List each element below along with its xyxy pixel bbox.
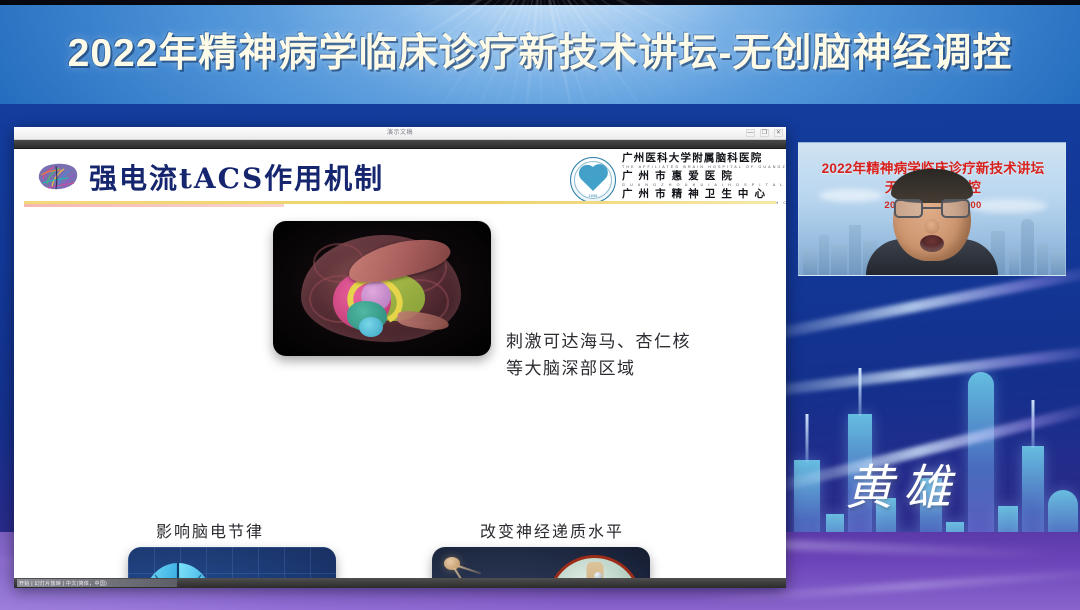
video-skyline-building <box>849 225 861 275</box>
presenter-nose <box>925 219 940 234</box>
pink-divider <box>24 204 284 207</box>
video-skyline-building <box>1037 243 1048 275</box>
glasses-lens-right <box>941 199 970 218</box>
video-skyline-building <box>1009 249 1019 275</box>
glasses-bridge <box>923 207 941 209</box>
footer-status-chip[interactable]: 开始 | 幻灯片放映 | 中文(简体，中国) <box>17 579 177 587</box>
presenter-mouth <box>920 235 944 252</box>
annotation-eeg-rhythm: 影响脑电节律 <box>156 518 264 542</box>
window-controls: — ❐ ✕ <box>746 129 783 137</box>
shared-slide-window[interactable]: 演示文稿 — ❐ ✕ <box>14 127 786 588</box>
glasses-lens-left <box>894 199 923 218</box>
seal-year: 1898 <box>589 194 598 198</box>
annotation-deep-brain: 刺激可达海马、杏仁核等大脑深部区域 <box>506 329 696 383</box>
video-skyline-building <box>819 235 829 275</box>
presenter-name: 黄雄 <box>845 448 961 518</box>
light-beam <box>780 343 1080 400</box>
screenshot-root: 2022年精神病学临床诊疗新技术讲坛-无创脑神经调控 黄雄 <box>0 0 1080 610</box>
neuron-dendrite <box>458 565 481 574</box>
footer-status-label: 开始 | 幻灯片放映 | 中文(简体，中国) <box>17 580 107 587</box>
video-skyline-building <box>831 245 847 275</box>
brain-structure-cyan <box>359 317 383 337</box>
video-skyline-building <box>1051 251 1065 275</box>
page-title: 2022年精神病学临床诊疗新技术讲坛-无创脑神经调控 <box>0 22 1080 78</box>
minimize-icon[interactable]: — <box>746 129 755 137</box>
hospital-line1-cn: 广州医科大学附属脑科医院 <box>622 153 786 164</box>
maximize-icon[interactable]: ❐ <box>760 129 769 137</box>
video-skyline-building <box>1021 219 1034 275</box>
hospital-logo: 1898 广州医科大学附属脑科医院 THE AFFILIATED BRAIN H… <box>570 153 786 206</box>
video-skyline-building <box>803 249 817 275</box>
slide-footer-taskbar[interactable]: 开始 | 幻灯片放映 | 中文(简体，中国) <box>14 578 786 588</box>
slide-header: 强电流tACS作用机制 1898 广州医科大学附属脑科医院 THE AFFILI… <box>14 149 786 205</box>
presentation-toolbar[interactable] <box>14 140 786 149</box>
annotation-neurotransmitter: 改变神经递质水平 <box>480 518 624 542</box>
brain-3d-image <box>273 221 491 356</box>
hospital-seal-icon: 1898 <box>570 157 616 203</box>
hospital-name-block: 广州医科大学附属脑科医院 THE AFFILIATED BRAIN HOSPIT… <box>622 153 786 206</box>
slide-canvas: 强电流tACS作用机制 1898 广州医科大学附属脑科医院 THE AFFILI… <box>14 149 786 588</box>
window-title-label: 演示文稿 <box>14 127 786 140</box>
slide-title: 强电流tACS作用机制 <box>89 157 384 197</box>
presenter-glasses-icon <box>894 199 970 219</box>
header-banner: 2022年精神病学临床诊疗新技术讲坛-无创脑神经调控 <box>0 0 1080 104</box>
presenter-video-tile[interactable]: 2022年精神病学临床诊疗新技术讲坛 无创脑神经调控 2022年6月25日 08… <box>798 142 1066 276</box>
colorful-brain-icon <box>36 161 80 193</box>
hospital-line3-cn: 广 州 市 精 神 卫 生 中 心 <box>622 189 786 200</box>
close-icon[interactable]: ✕ <box>774 129 783 137</box>
hospital-line2-cn: 广 州 市 惠 爱 医 院 <box>622 171 786 182</box>
window-titlebar[interactable]: 演示文稿 — ❐ ✕ <box>14 127 786 140</box>
